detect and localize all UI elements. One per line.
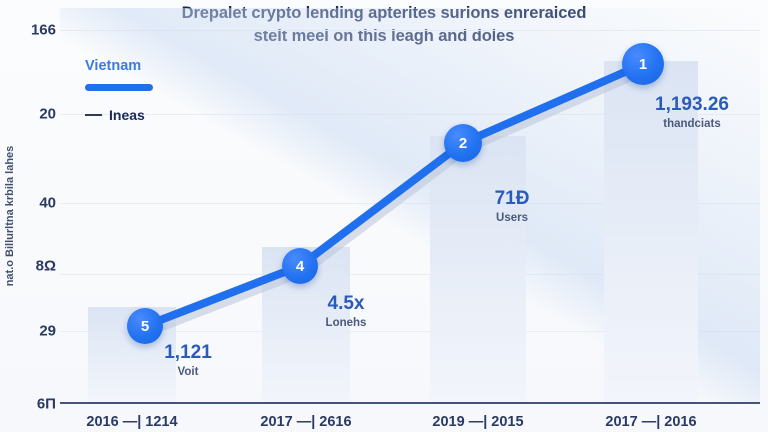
x-axis-tick-label: 2017 —| 2616 xyxy=(260,414,351,430)
annotation-sublabel: Users xyxy=(495,210,530,226)
y-axis-tick-label: 6Π xyxy=(0,396,56,413)
annotation-value: 1,193.26 xyxy=(655,94,729,116)
chart-canvas: Drepalet crypto lending apterites surion… xyxy=(0,0,768,432)
y-axis-tick-label: 20 xyxy=(0,106,56,123)
x-axis-line xyxy=(60,402,760,405)
y-axis-tick-label: 29 xyxy=(0,323,56,340)
annotation-value: 1,121 xyxy=(164,342,212,364)
data-annotation: 4.5xLonehs xyxy=(326,293,367,331)
y-axis-tick-label: 40 xyxy=(0,195,56,212)
legend-series-swatch xyxy=(85,84,153,91)
data-annotation: 1,193.26thandciats xyxy=(655,94,729,132)
legend-series-name: Vietnam xyxy=(85,58,153,74)
data-point-marker[interactable]: 4 xyxy=(282,248,318,284)
annotation-value: 71Ɖ xyxy=(495,188,530,210)
data-annotation: 1,121Voit xyxy=(164,342,212,380)
legend-dash-icon xyxy=(85,114,102,117)
y-axis-tick-label: 8Ω xyxy=(0,258,56,275)
x-axis-tick-label: 2019 —| 2015 xyxy=(432,414,523,430)
annotation-sublabel: thandciats xyxy=(655,116,729,132)
y-axis-tick-label: 166 xyxy=(0,22,56,39)
data-point-marker[interactable]: 1 xyxy=(622,43,664,85)
data-point-marker[interactable]: 2 xyxy=(444,124,482,162)
data-point-marker[interactable]: 5 xyxy=(127,308,163,344)
annotation-sublabel: Voit xyxy=(164,364,212,380)
annotation-sublabel: Lonehs xyxy=(326,315,367,331)
x-axis-tick-label: 2017 —| 2016 xyxy=(605,414,696,430)
data-annotation: 71ƉUsers xyxy=(495,188,530,226)
plot-area: 16620408Ω296Π 5421 1,121Voit4.5xLonehs71… xyxy=(60,8,760,404)
legend: Vietnam Ineas xyxy=(85,58,153,123)
legend-secondary-label: Ineas xyxy=(109,107,145,123)
annotation-value: 4.5x xyxy=(326,293,367,315)
x-axis-tick-label: 2016 —| 1214 xyxy=(86,414,177,430)
legend-secondary-row: Ineas xyxy=(85,107,153,123)
